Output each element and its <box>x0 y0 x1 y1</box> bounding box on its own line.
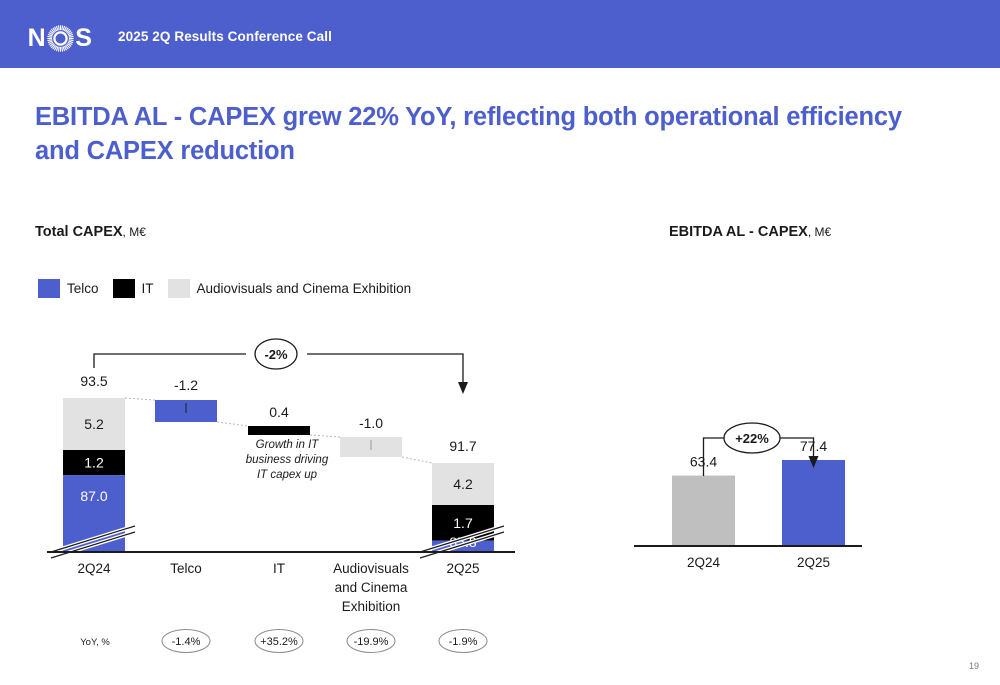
right-chart-heading: EBITDA AL - CAPEX, M€ <box>669 224 831 240</box>
legend-label: Telco <box>67 281 99 296</box>
ebitda-x-label-1: 2Q25 <box>797 555 830 570</box>
ebitda-bar-2Q24 <box>672 476 735 546</box>
right-chart-heading-unit: , M€ <box>808 225 831 239</box>
logo-burst-o-icon <box>47 25 74 52</box>
legend-swatch <box>38 279 60 298</box>
delta-badge-label: +22% <box>735 431 769 446</box>
nos-logo: N S <box>27 23 93 53</box>
annotation-line-1: Growth in IT <box>256 439 320 451</box>
bar-value-it: 1.7 <box>453 515 473 531</box>
connector-line <box>402 457 432 463</box>
annotation-line-2: business driving <box>246 454 329 466</box>
bar-total-label: 91.7 <box>449 438 476 454</box>
connector-line <box>310 435 340 437</box>
delta-bracket-left <box>94 354 246 368</box>
legend-item-it: IT <box>113 279 154 298</box>
left-chart-heading-unit: , M€ <box>123 225 146 239</box>
annotation-line-3: IT capex up <box>257 469 318 481</box>
yoy-badge-label-3: -1.9% <box>449 636 478 648</box>
logo-letter-n: N <box>28 23 47 53</box>
bar-total-label: 93.5 <box>80 373 107 389</box>
legend-item-telco: Telco <box>38 279 99 298</box>
right-chart-heading-text: EBITDA AL - CAPEX <box>669 224 808 240</box>
delta-label-telco: -1.2 <box>174 377 198 393</box>
yoy-row-label: YoY, % <box>80 637 110 648</box>
x-axis-label-3: and Cinema <box>335 580 408 595</box>
total-capex-waterfall-chart: 5.21.287.093.5-1.20.4-1.04.21.785.891.7-… <box>0 330 560 670</box>
top-header-bar: N S 2025 2Q Results Conference Call <box>0 0 1000 68</box>
connector-line <box>125 398 155 400</box>
yoy-badge-label-1: +35.2% <box>260 636 298 648</box>
logo-letter-s: S <box>75 23 92 53</box>
x-axis-label-3: Audiovisuals <box>333 561 409 576</box>
legend-label: IT <box>142 281 154 296</box>
left-chart-heading-text: Total CAPEX <box>35 224 123 240</box>
yoy-badge-label-2: -19.9% <box>354 636 389 648</box>
legend-swatch <box>113 279 135 298</box>
waterfall-column-0: 5.21.287.093.5 <box>51 373 135 558</box>
ebitda-x-label-0: 2Q24 <box>687 555 721 570</box>
delta-bar-it <box>248 426 310 435</box>
bar-value-audiovisuals: 5.2 <box>84 416 104 432</box>
x-axis-label-1: Telco <box>170 561 202 576</box>
ebitda-bar-2Q25 <box>782 460 845 546</box>
x-axis-label-3: Exhibition <box>342 599 401 614</box>
bar-value-it: 1.2 <box>84 455 104 471</box>
legend-swatch <box>168 279 190 298</box>
delta-arrow-icon <box>458 382 468 394</box>
yoy-badge-label-0: -1.4% <box>172 636 201 648</box>
delta-label-it: 0.4 <box>269 404 289 420</box>
left-chart-heading: Total CAPEX, M€ <box>35 224 146 240</box>
delta-bracket-right <box>307 354 463 384</box>
bar-value-telco: 87.0 <box>80 488 107 504</box>
connector-line <box>217 422 248 426</box>
delta-label-audiovisuals: -1.0 <box>359 415 383 431</box>
legend-item-audiovisuals: Audiovisuals and Cinema Exhibition <box>168 279 412 298</box>
page-number: 19 <box>969 661 979 671</box>
delta-badge-label: -2% <box>264 347 288 362</box>
chart-legend: TelcoITAudiovisuals and Cinema Exhibitio… <box>38 279 425 298</box>
bar-value-audiovisuals: 4.2 <box>453 476 473 492</box>
x-axis-label-4: 2Q25 <box>446 561 479 576</box>
x-axis-label-2: IT <box>273 561 285 576</box>
legend-label: Audiovisuals and Cinema Exhibition <box>197 281 412 296</box>
x-axis-label-0: 2Q24 <box>77 561 111 576</box>
page-title: EBITDA AL - CAPEX grew 22% YoY, reflecti… <box>35 101 925 168</box>
ebitda-al-capex-chart: 63.42Q2477.42Q25+22% <box>620 420 1000 600</box>
header-title: 2025 2Q Results Conference Call <box>118 29 332 44</box>
